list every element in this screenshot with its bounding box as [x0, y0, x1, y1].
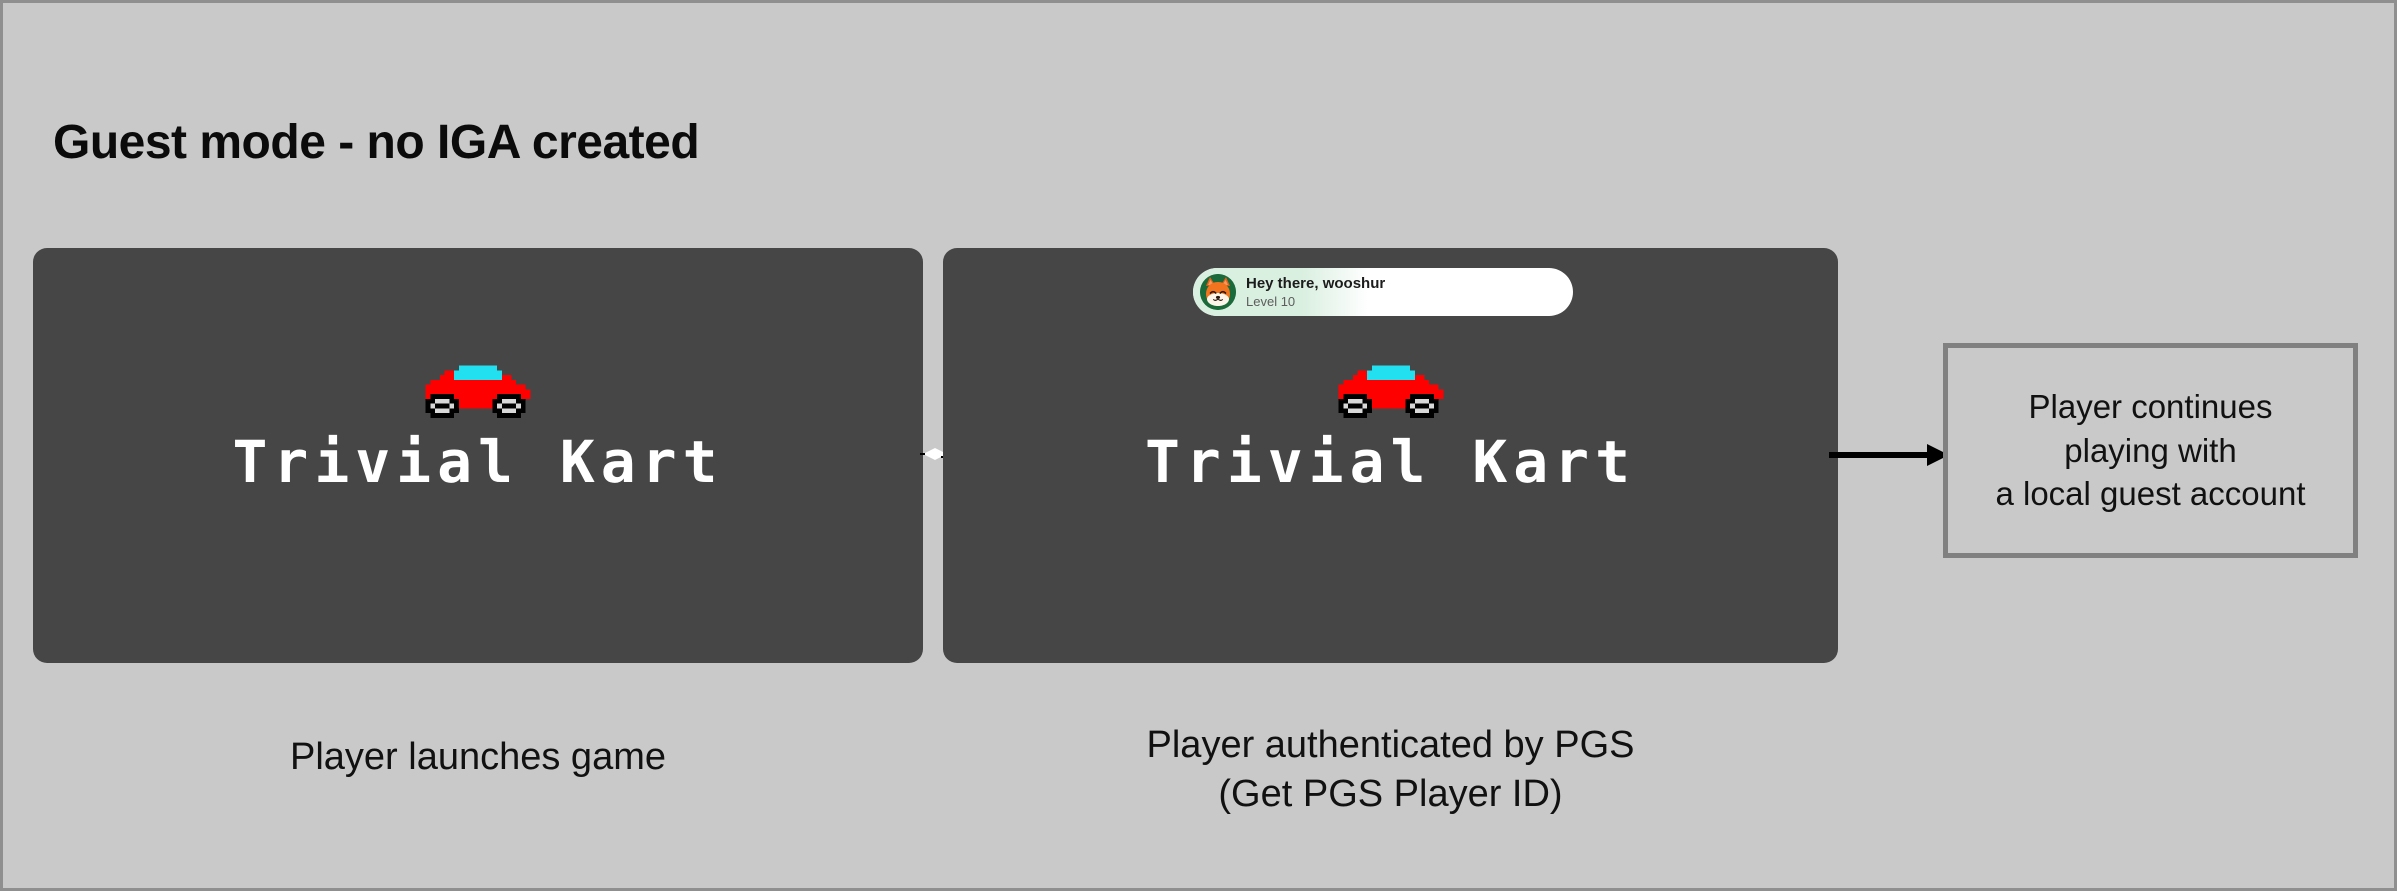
game-screenshot-auth: Hey there, wooshur Level 10 [943, 248, 1838, 663]
toast-greeting-text: Hey there, wooshur [1246, 276, 1385, 292]
caption-player-authenticated: Player authenticated by PGS (Get PGS Pla… [943, 721, 1838, 818]
flow-arrow-icon [1829, 438, 1949, 472]
caption-player-launches-game: Player launches game [33, 733, 923, 782]
pixel-race-car-icon [408, 356, 548, 418]
game-logo-text: Trivial Kart [33, 428, 923, 496]
page-title: Guest mode - no IGA created [53, 115, 699, 170]
outcome-text: Player continues playing with a local gu… [1991, 385, 2309, 516]
toast-level-text: Level 10 [1246, 295, 1385, 309]
toast-text-block: Hey there, wooshur Level 10 [1246, 276, 1385, 308]
diagram-canvas: Guest mode - no IGA created [0, 0, 2397, 891]
game-screenshot-launch: Trivial Kart [33, 248, 923, 663]
outcome-box: Player continues playing with a local gu… [1943, 343, 2358, 558]
pgs-signin-toast[interactable]: Hey there, wooshur Level 10 [1193, 268, 1573, 316]
fox-avatar-icon [1200, 274, 1236, 310]
game-logo-text: Trivial Kart [943, 428, 1838, 496]
pixel-race-car-icon [1321, 356, 1461, 418]
